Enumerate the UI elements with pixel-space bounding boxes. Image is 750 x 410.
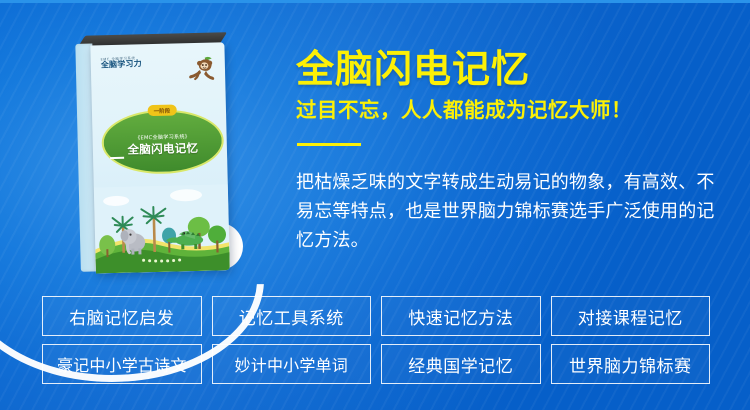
box-brand-name: 全脑学习力: [101, 60, 142, 70]
box-front-cover: EMC 全脑学习系统 全脑学习力 一阶段 《EMC全脑学习系统》 全脑闪电记忆: [90, 42, 230, 273]
feature-button-6[interactable]: 妙计中小学单词: [212, 344, 372, 384]
box-cover-label: 一阶段 《EMC全脑学习系统》 全脑闪电记忆: [101, 108, 225, 175]
feature-button-7[interactable]: 经典国学记忆: [381, 344, 541, 384]
box-stage-tag: 一阶段: [148, 104, 177, 116]
jungle-scene-illustration: [94, 184, 230, 273]
feature-button-2[interactable]: 记忆工具系统: [212, 296, 372, 336]
page-title: 全脑闪电记忆: [296, 50, 530, 88]
feature-button-5[interactable]: 豪记中小学古诗文: [42, 344, 202, 384]
monkey-icon: [183, 54, 218, 85]
feature-button-grid: 右脑记忆启发 记忆工具系统 快速记忆方法 对接课程记忆 豪记中小学古诗文 妙计中…: [42, 296, 710, 384]
title-underline: [297, 143, 361, 146]
box-cover-title: 全脑闪电记忆: [127, 139, 198, 157]
box-label-dash: [110, 157, 124, 159]
feature-button-3[interactable]: 快速记忆方法: [381, 296, 541, 336]
feature-button-4[interactable]: 对接课程记忆: [551, 296, 711, 336]
promo-banner: 1 EMC 全脑学习系统 全脑学习力: [0, 0, 750, 410]
page-subtitle: 过目不忘，人人都能成为记忆大师！: [296, 100, 632, 121]
box-brand-logo: EMC 全脑学习系统 全脑学习力: [101, 57, 142, 71]
feature-button-1[interactable]: 右脑记忆启发: [42, 296, 202, 336]
feature-button-8[interactable]: 世界脑力锦标赛: [551, 344, 711, 384]
product-box-image: EMC 全脑学习系统 全脑学习力 一阶段 《EMC全脑学习系统》 全脑闪电记忆: [75, 32, 233, 274]
description-text: 把枯燥乏味的文字转成生动易记的物象，有高效、不易忘等特点，也是世界脑力锦标赛选手…: [296, 168, 721, 255]
